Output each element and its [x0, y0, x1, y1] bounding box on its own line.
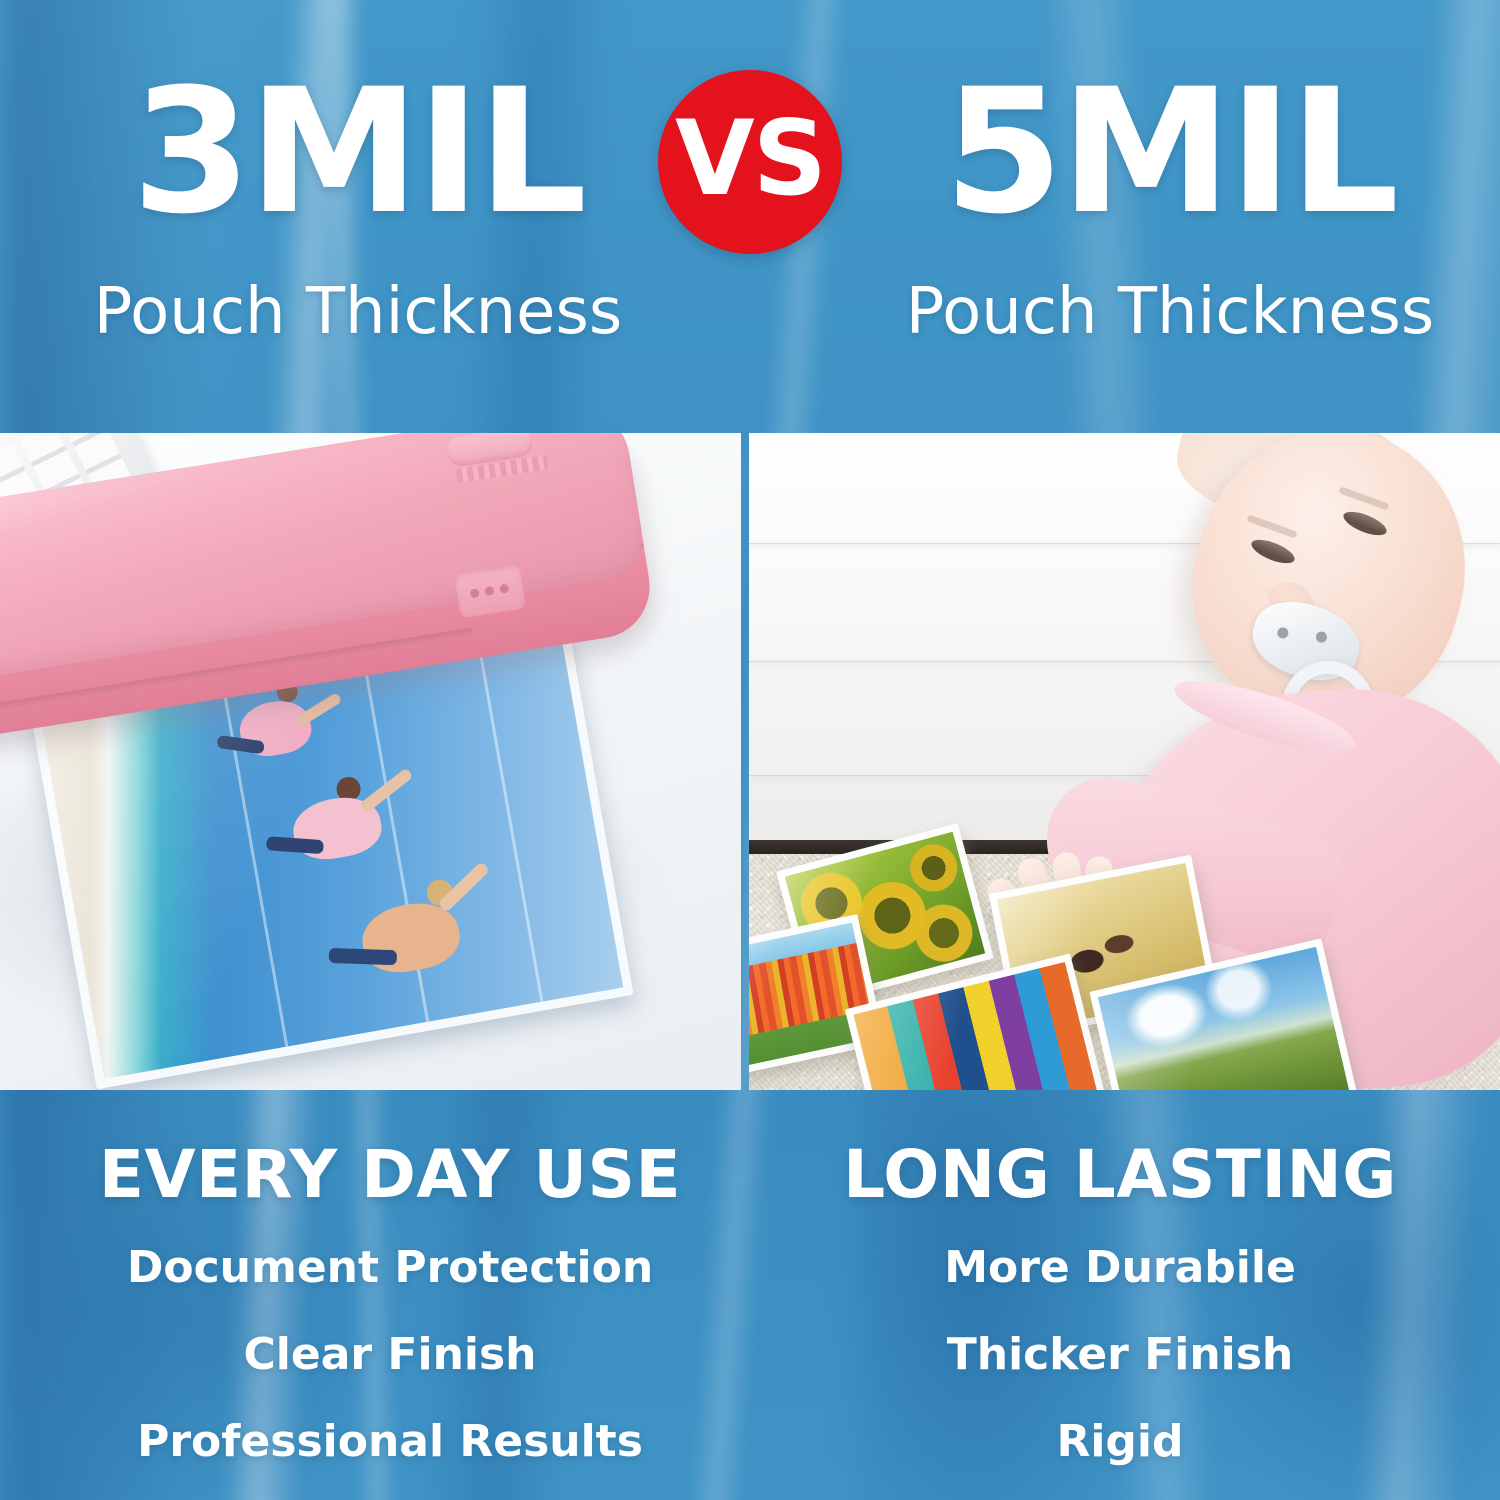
thickness-column-right: 5MIL Pouch Thickness	[860, 66, 1480, 344]
benefit-column-right: LONG LASTING More Durabile Thicker Finis…	[770, 1090, 1470, 1500]
benefit-item: Clear Finish	[40, 1333, 740, 1377]
thickness-column-left: 3MIL Pouch Thickness	[48, 66, 668, 344]
pacifier-hole	[1315, 630, 1329, 644]
benefits-section: EVERY DAY USE Document Protection Clear …	[0, 1090, 1500, 1500]
benefit-column-left: EVERY DAY USE Document Protection Clear …	[40, 1090, 740, 1500]
benefit-item: Professional Results	[40, 1420, 740, 1464]
benefit-item: Thicker Finish	[770, 1333, 1470, 1377]
vs-badge: VS	[658, 70, 842, 254]
benefit-item: More Durabile	[770, 1246, 1470, 1290]
benefit-heading-left: EVERY DAY USE	[40, 1090, 740, 1208]
photo-panel-right	[749, 433, 1500, 1090]
benefit-heading-right: LONG LASTING	[770, 1090, 1470, 1208]
benefit-item: Document Protection	[40, 1246, 740, 1290]
pacifier-hole	[1276, 626, 1290, 640]
thickness-caption-right: Pouch Thickness	[860, 280, 1480, 344]
thickness-value-right: 5MIL	[860, 66, 1480, 238]
header-comparison: 3MIL Pouch Thickness VS 5MIL Pouch Thick…	[0, 0, 1500, 433]
photo-panel-left	[0, 433, 741, 1090]
photo-panels	[0, 433, 1500, 1090]
beach-figure	[315, 848, 515, 1015]
laminator-indicator-icon	[470, 588, 480, 598]
laminator-indicator-icon	[499, 583, 509, 593]
benefit-list-left: Document Protection Clear Finish Profess…	[40, 1246, 740, 1464]
laminator-power-button[interactable]	[484, 586, 494, 596]
benefit-list-right: More Durabile Thicker Finish Rigid	[770, 1246, 1470, 1464]
thickness-caption-left: Pouch Thickness	[48, 280, 668, 344]
infographic-root: 3MIL Pouch Thickness VS 5MIL Pouch Thick…	[0, 0, 1500, 1500]
benefit-item: Rigid	[770, 1420, 1470, 1464]
thickness-value-left: 3MIL	[48, 66, 668, 238]
vs-badge-label: VS	[675, 108, 825, 211]
